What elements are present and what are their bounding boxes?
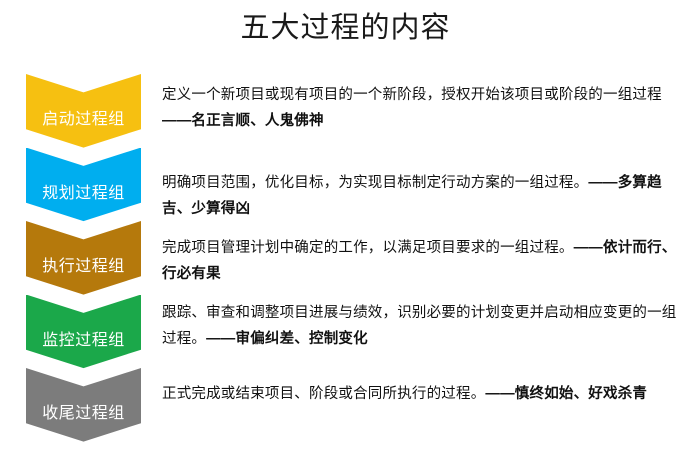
chevron-executing[interactable]: 执行过程组 bbox=[26, 221, 141, 313]
chevron-label-planning: 规划过程组 bbox=[26, 184, 141, 204]
chevron-closing[interactable]: 收尾过程组 bbox=[26, 368, 141, 460]
description-planning: 明确项目范围，优化目标，为实现目标制定行动方案的一组过程。——多算趋吉、少算得凶 bbox=[162, 170, 684, 222]
description-executing-normal: 完成项目管理计划中确定的工作，以满足项目要求的一组过程。 bbox=[162, 240, 574, 256]
description-executing: 完成项目管理计划中确定的工作，以满足项目要求的一组过程。——依计而行、行必有果 bbox=[162, 235, 684, 287]
chevron-label-closing: 收尾过程组 bbox=[26, 404, 141, 424]
description-initiating: 定义一个新项目或现有项目的一个新阶段，授权开始该项目或阶段的一组过程——名正言顺… bbox=[162, 82, 684, 134]
description-planning-normal: 明确项目范围，优化目标，为实现目标制定行动方案的一组过程。 bbox=[162, 175, 588, 191]
chevron-label-executing: 执行过程组 bbox=[26, 257, 141, 277]
description-closing-normal: 正式完成或结束项目、阶段或合同所执行的过程。 bbox=[162, 386, 485, 402]
process-group-chevron-stack: 启动过程组 规划过程组 执行过程组 监控过程组 收尾过程组 bbox=[26, 74, 141, 452]
chevron-initiating[interactable]: 启动过程组 bbox=[26, 74, 141, 166]
description-initiating-bold: ——名正言顺、人鬼佛神 bbox=[162, 113, 324, 129]
description-monitoring: 跟踪、审查和调整项目进展与绩效，识别必要的计划变更并启动相应变更的一组过程。——… bbox=[162, 300, 684, 352]
description-closing: 正式完成或结束项目、阶段或合同所执行的过程。——慎终如始、好戏杀青 bbox=[162, 381, 684, 407]
page-title: 五大过程的内容 bbox=[0, 8, 691, 48]
description-initiating-normal: 定义一个新项目或现有项目的一个新阶段，授权开始该项目或阶段的一组过程 bbox=[162, 87, 662, 103]
slide-canvas: 五大过程的内容 启动过程组 规划过程组 执行过程组 监控过程组 收尾过程组 定义… bbox=[0, 0, 691, 456]
chevron-label-initiating: 启动过程组 bbox=[26, 110, 141, 130]
description-closing-bold: ——慎终如始、好戏杀青 bbox=[485, 386, 647, 402]
chevron-label-monitoring: 监控过程组 bbox=[26, 331, 141, 351]
description-monitoring-bold: ——审偏纠差、控制变化 bbox=[206, 331, 368, 347]
chevron-planning[interactable]: 规划过程组 bbox=[26, 148, 141, 240]
chevron-monitoring[interactable]: 监控过程组 bbox=[26, 295, 141, 387]
